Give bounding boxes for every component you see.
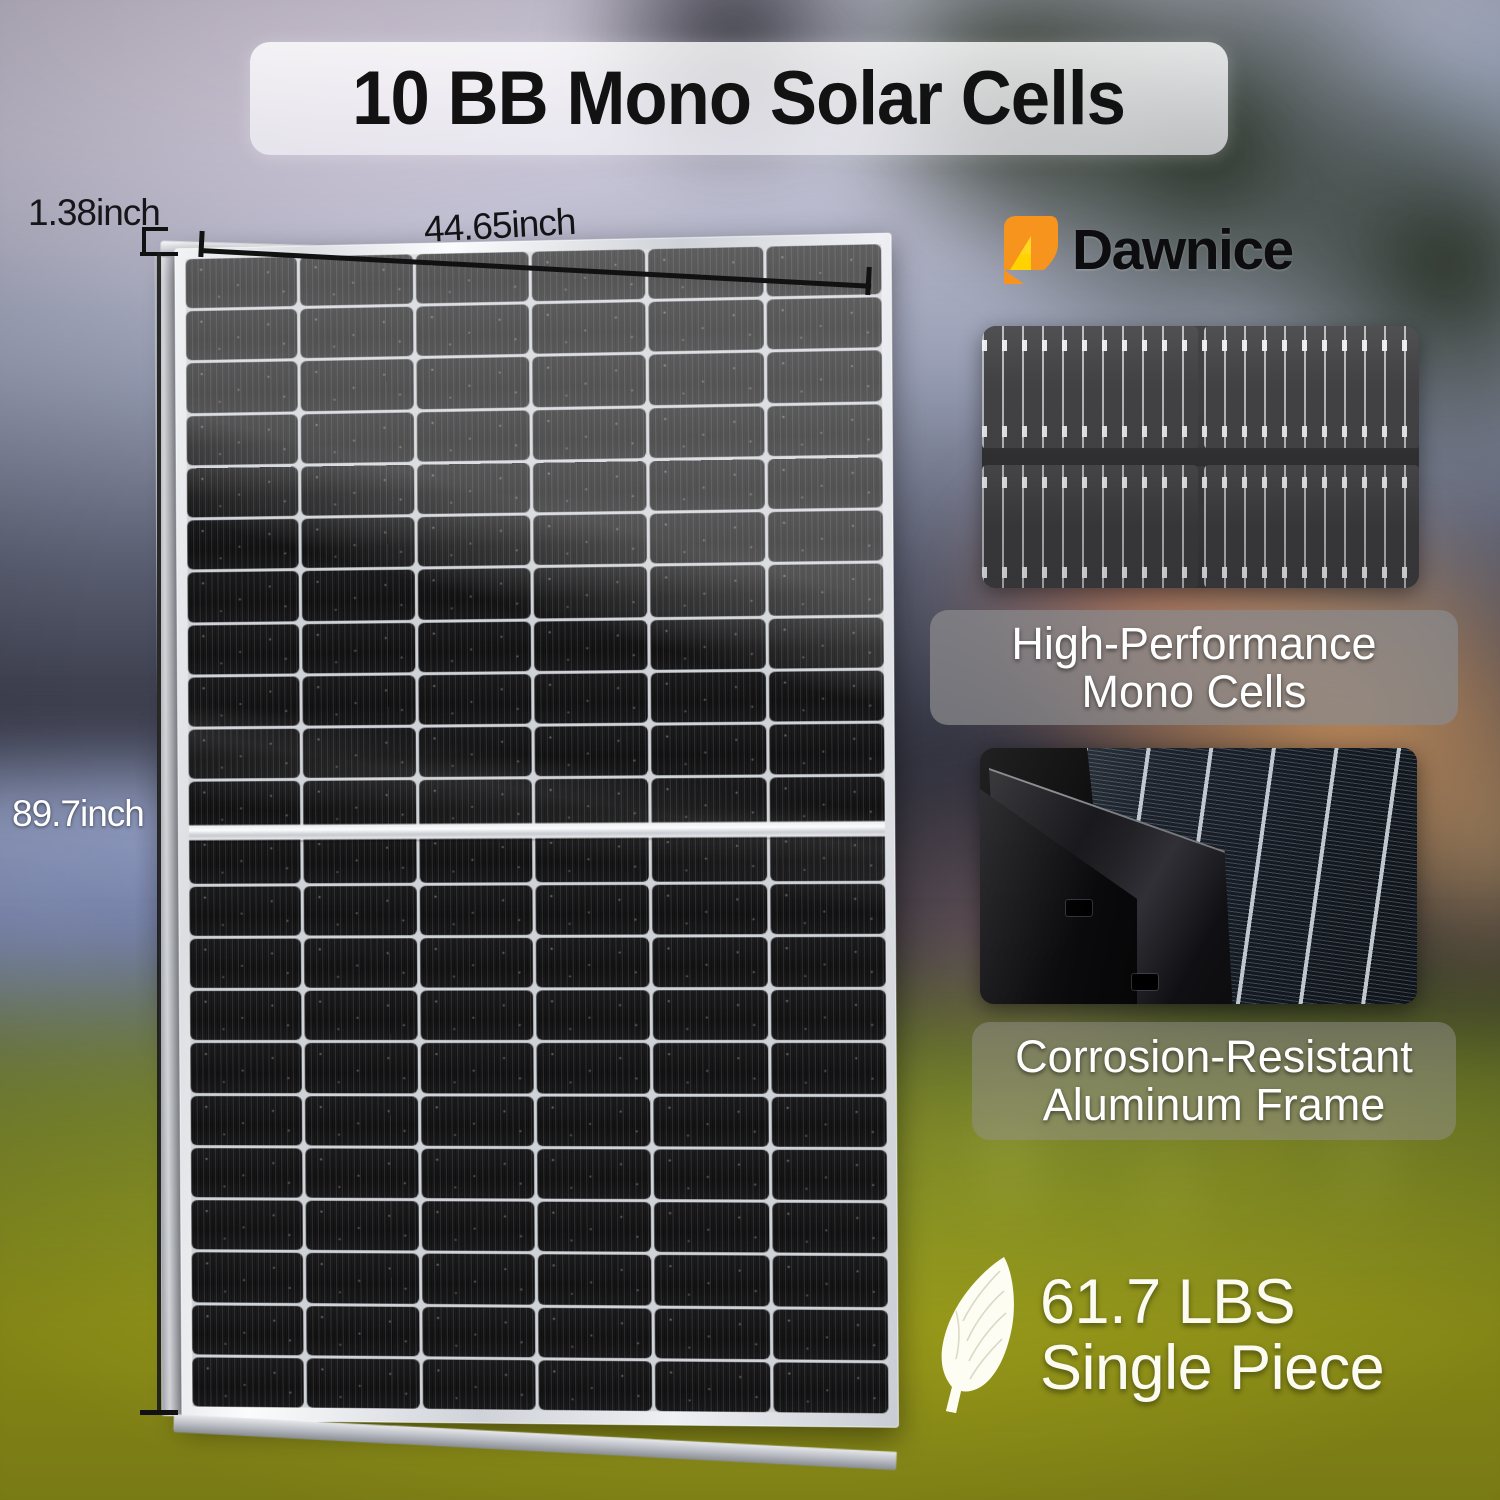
panel-cell bbox=[188, 676, 300, 726]
panel-cell bbox=[187, 571, 299, 622]
panel-cell bbox=[649, 353, 764, 405]
panel-cell bbox=[767, 457, 883, 509]
panel-cell bbox=[534, 673, 648, 724]
panel-cell bbox=[772, 1150, 888, 1201]
panel-cell bbox=[190, 1043, 302, 1092]
panel-aluminum-frame bbox=[174, 233, 898, 1428]
feather-icon bbox=[930, 1251, 1022, 1416]
panel-cell bbox=[420, 1043, 533, 1093]
panel-cell bbox=[416, 357, 529, 409]
panel-cell bbox=[306, 1253, 419, 1303]
panel-cell bbox=[305, 1096, 418, 1146]
panel-cell bbox=[532, 302, 646, 354]
panel-cell bbox=[186, 414, 298, 465]
panel-cell bbox=[418, 727, 531, 778]
feature-label-line1: High-Performance bbox=[1011, 620, 1376, 668]
panel-cell bbox=[769, 724, 885, 775]
panel-cell bbox=[770, 937, 886, 987]
panel-cell bbox=[534, 726, 648, 777]
panel-cell bbox=[191, 1148, 303, 1198]
solar-panel-body bbox=[146, 198, 907, 1438]
panel-cell bbox=[305, 991, 418, 1041]
dimension-label-thickness: 1.38inch bbox=[28, 192, 160, 234]
panel-cell bbox=[417, 516, 530, 567]
panel-cell bbox=[422, 1254, 535, 1304]
panel-cell bbox=[537, 1149, 651, 1199]
panel-cell bbox=[768, 511, 884, 563]
cell-closeup-render bbox=[982, 326, 1419, 588]
panel-cell bbox=[649, 406, 764, 458]
panel-cell bbox=[305, 1043, 418, 1093]
panel-cell bbox=[187, 519, 299, 570]
panel-cell bbox=[767, 404, 883, 456]
panel-cell bbox=[652, 831, 767, 882]
panel-cell bbox=[536, 1043, 650, 1093]
panel-cell bbox=[533, 408, 647, 460]
panel-cell bbox=[651, 618, 766, 669]
panel-cell bbox=[421, 1149, 534, 1199]
panel-cell bbox=[651, 672, 766, 723]
panel-cell bbox=[766, 297, 882, 349]
panel-cell bbox=[768, 564, 884, 616]
panel-cell bbox=[302, 517, 415, 568]
panel-cell bbox=[191, 1200, 303, 1250]
page-title: 10 BB Mono Solar Cells bbox=[353, 61, 1126, 137]
panel-cell bbox=[302, 570, 415, 621]
solar-cell-closeup-photo bbox=[982, 326, 1419, 588]
panel-cell bbox=[420, 991, 533, 1041]
feature-label-mono-cells: High-Performance Mono Cells bbox=[930, 610, 1458, 725]
dimension-label-width: 44.65inch bbox=[423, 201, 577, 251]
frame-closeup-render bbox=[980, 748, 1417, 1004]
panel-cell bbox=[536, 937, 650, 987]
panel-cell bbox=[306, 1201, 419, 1251]
panel-cell bbox=[304, 938, 417, 988]
title-banner: 10 BB Mono Solar Cells bbox=[250, 42, 1228, 155]
panel-cell bbox=[770, 884, 886, 935]
panel-cell bbox=[767, 351, 883, 403]
feature-label-line2: Mono Cells bbox=[1081, 668, 1306, 716]
panel-cell bbox=[654, 1202, 769, 1253]
panel-cell bbox=[417, 568, 530, 619]
panel-cell bbox=[772, 1203, 888, 1254]
panel-cell bbox=[650, 565, 765, 616]
panel-cell bbox=[417, 463, 530, 514]
panel-cell bbox=[416, 305, 529, 357]
panel-cell bbox=[422, 1306, 535, 1357]
panel-cell bbox=[652, 884, 767, 934]
panel-cell bbox=[303, 675, 416, 726]
weight-text: 61.7 LBS Single Piece bbox=[1040, 1270, 1384, 1401]
panel-cell bbox=[188, 624, 300, 675]
panel-cell bbox=[538, 1307, 652, 1358]
panel-cell bbox=[653, 990, 768, 1040]
aluminum-frame-closeup-photo bbox=[980, 748, 1417, 1004]
panel-cell bbox=[186, 362, 298, 413]
panel-cell bbox=[768, 617, 884, 668]
panel-cell bbox=[189, 834, 301, 884]
panel-cell bbox=[655, 1255, 770, 1306]
weight-badge: 61.7 LBS Single Piece bbox=[930, 1252, 1430, 1420]
feature-label-aluminum-frame: Corrosion-Resistant Aluminum Frame bbox=[972, 1022, 1456, 1140]
panel-cell bbox=[421, 1096, 534, 1146]
panel-cell bbox=[301, 465, 414, 516]
panel-cell bbox=[190, 939, 302, 989]
weight-line1: 61.7 LBS bbox=[1040, 1270, 1384, 1336]
panel-cell bbox=[188, 729, 300, 779]
panel-cell bbox=[304, 833, 417, 883]
panel-cell bbox=[535, 885, 649, 935]
panel-cell bbox=[771, 1043, 887, 1093]
panel-cell bbox=[766, 244, 882, 297]
panel-cell bbox=[419, 885, 532, 935]
panel-cell bbox=[422, 1359, 535, 1410]
panel-cell bbox=[533, 514, 647, 565]
panel-cell bbox=[537, 1096, 651, 1146]
height-tick-bottom bbox=[140, 1410, 178, 1415]
panel-cell bbox=[654, 1096, 769, 1146]
panel-cell bbox=[650, 459, 765, 511]
panel-cell bbox=[192, 1253, 304, 1303]
panel-cell bbox=[770, 830, 886, 881]
panel-cell bbox=[186, 257, 298, 309]
panel-cell bbox=[536, 990, 650, 1040]
panel-cell bbox=[307, 1306, 420, 1356]
panel-cell bbox=[192, 1357, 304, 1407]
panel-cell bbox=[192, 1305, 304, 1355]
brand-logo: Dawnice bbox=[1000, 214, 1293, 286]
panel-cell bbox=[301, 360, 414, 412]
panel-cell bbox=[418, 674, 531, 725]
panel-cell bbox=[653, 1043, 768, 1093]
panel-cell bbox=[769, 670, 885, 721]
cell-closeup-shading bbox=[982, 326, 1419, 588]
panel-cell bbox=[534, 620, 648, 671]
panel-cell bbox=[190, 991, 302, 1040]
panel-cell bbox=[186, 309, 298, 361]
panel-cell bbox=[533, 461, 647, 513]
panel-cell bbox=[302, 623, 415, 674]
weight-line2: Single Piece bbox=[1040, 1336, 1384, 1402]
feature-label-line2: Aluminum Frame bbox=[1043, 1081, 1386, 1129]
frame-closeup-highlight bbox=[980, 748, 1417, 1004]
panel-cell bbox=[307, 1358, 420, 1409]
panel-cell bbox=[538, 1360, 652, 1411]
panel-cell bbox=[419, 832, 532, 882]
panel-cell bbox=[650, 512, 765, 564]
panel-glass-surface bbox=[186, 244, 889, 1413]
panel-cell bbox=[655, 1361, 770, 1412]
panel-cell bbox=[300, 307, 413, 359]
panel-cell bbox=[187, 467, 299, 518]
dimension-label-height: 89.7inch bbox=[12, 793, 144, 835]
panel-cell bbox=[421, 1201, 534, 1251]
panel-cell bbox=[534, 567, 648, 618]
panel-cell bbox=[303, 728, 416, 778]
feature-label-line1: Corrosion-Resistant bbox=[1015, 1033, 1413, 1081]
panel-cell bbox=[532, 355, 646, 407]
panel-cell bbox=[191, 1096, 303, 1146]
panel-cell bbox=[301, 412, 414, 463]
dawnice-logo-icon bbox=[1000, 214, 1062, 286]
panel-cell bbox=[771, 990, 887, 1040]
panel-cell bbox=[771, 1097, 887, 1147]
panel-cell bbox=[416, 410, 529, 462]
height-measure-line bbox=[157, 252, 161, 1415]
panel-cell bbox=[418, 621, 531, 672]
panel-cell bbox=[189, 886, 301, 936]
panel-cell bbox=[306, 1148, 419, 1198]
panel-cell bbox=[304, 886, 417, 936]
panel-cell bbox=[649, 300, 764, 352]
panel-cell bbox=[655, 1308, 770, 1359]
panel-cell bbox=[773, 1309, 889, 1360]
solar-panel-product bbox=[150, 215, 890, 1430]
brand-name: Dawnice bbox=[1072, 217, 1293, 283]
panel-cell bbox=[538, 1255, 652, 1306]
panel-cell bbox=[772, 1256, 888, 1307]
panel-cell bbox=[420, 938, 533, 988]
panel-cell bbox=[773, 1362, 889, 1413]
panel-cell bbox=[537, 1202, 651, 1252]
panel-cell bbox=[653, 937, 768, 987]
panel-cell bbox=[651, 725, 766, 776]
panel-cell bbox=[535, 832, 649, 882]
panel-cell bbox=[654, 1149, 769, 1199]
